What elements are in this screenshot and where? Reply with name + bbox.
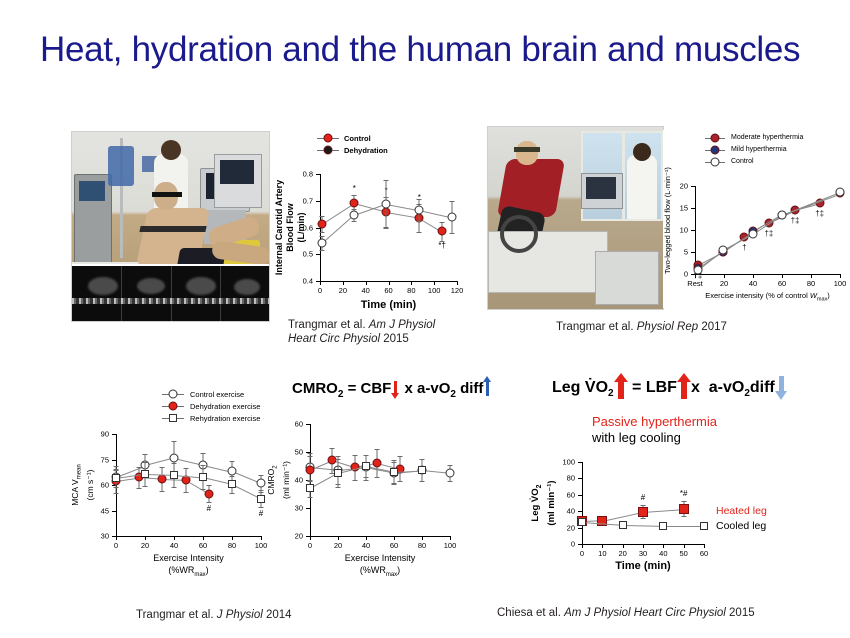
data-point <box>638 507 648 517</box>
data-point <box>373 459 382 468</box>
x-tick-label: 60 <box>778 279 786 288</box>
error-cap <box>641 518 646 519</box>
data-point <box>199 473 207 481</box>
y-axis-label: Internal Carotid ArteryBlood Flow(L/min) <box>274 174 307 281</box>
data-point <box>679 504 689 514</box>
error-cap <box>206 485 211 486</box>
x-tick-label: 50 <box>679 549 687 558</box>
error-cap <box>201 465 206 466</box>
data-point <box>362 462 370 470</box>
x-tick-label: 80 <box>807 279 815 288</box>
data-point <box>257 495 265 503</box>
y-axis-label-line: Leg V̇O2 <box>530 462 546 544</box>
x-tick-label: 60 <box>199 541 207 550</box>
error-cap <box>308 480 313 481</box>
y-tick <box>578 511 582 512</box>
x-tick-label: 10 <box>598 549 606 558</box>
error-cap <box>114 466 119 467</box>
citation-journal-2: Heart Circ Physiol <box>288 333 380 345</box>
data-point <box>382 199 391 208</box>
error-cap <box>230 476 235 477</box>
x-tick <box>411 281 412 285</box>
citation-year: 2015 <box>729 607 755 619</box>
x-tick <box>623 544 624 548</box>
x-tick <box>782 274 783 278</box>
error-cap <box>330 448 335 449</box>
error-cap <box>450 233 455 234</box>
x-tick <box>582 544 583 548</box>
x-tick-label: 80 <box>418 541 426 550</box>
eq-term-avo2: a-vO <box>709 379 745 396</box>
data-point <box>778 211 787 220</box>
x-axis-label-line2: (%WRmax) <box>345 564 416 581</box>
error-cap <box>230 493 235 494</box>
eq-equals: = <box>632 379 641 396</box>
x-tick <box>261 536 262 540</box>
x-tick <box>840 274 841 278</box>
y-tick <box>691 186 695 187</box>
error-cap <box>384 228 389 229</box>
error-cap <box>320 236 325 237</box>
x-tick <box>343 281 344 285</box>
significance-marker: # <box>259 509 263 518</box>
x-tick-label: 100 <box>255 541 268 550</box>
error-cap <box>320 232 325 233</box>
y-axis-label-line: MCA Vmean <box>70 434 85 536</box>
eq-term-avo2: a-vO <box>417 380 450 397</box>
significance-marker: * <box>353 184 356 193</box>
x-axis-label: Exercise Intensity(%WRmax) <box>345 552 416 581</box>
eye-anonymity-band <box>152 192 182 197</box>
legend-label: Rehydration exercise <box>190 414 260 423</box>
carotid-ultrasound-lab-photo <box>71 131 270 322</box>
x-axis-label-line2: (%WRmax) <box>153 564 224 581</box>
legend-label: Moderate hyperthermia <box>731 134 803 141</box>
error-cap <box>364 480 369 481</box>
citation-bottom-right: Chiesa et al. Am J Physiol Heart Circ Ph… <box>497 606 755 620</box>
y-axis-label-line: (L/min) <box>296 174 307 281</box>
error-cap <box>440 222 445 223</box>
x-tick-label: 100 <box>834 279 847 288</box>
subject-head <box>516 141 538 165</box>
error-cap <box>259 490 264 491</box>
x-tick-label: Rest <box>687 279 702 288</box>
error-cap <box>681 501 686 502</box>
x-axis-label-sub: max <box>817 297 827 303</box>
error-cap <box>397 456 402 457</box>
error-cap <box>114 470 119 471</box>
y-tick <box>578 528 582 529</box>
x-tick <box>203 536 204 540</box>
seated-subject <box>132 182 252 277</box>
data-point <box>141 470 149 478</box>
equation-cmro2: CMRO2 = CBF x a-vO2 diff <box>292 378 492 400</box>
error-cap <box>417 199 422 200</box>
error-cap <box>259 507 264 508</box>
series-line <box>623 525 664 527</box>
down-blue-arrow-icon <box>775 374 787 400</box>
head-mounted-sensor <box>514 147 540 152</box>
error-cap <box>183 468 188 469</box>
legend-marker <box>324 146 333 155</box>
legend-marker <box>711 134 720 143</box>
citation-top-left: Trangmar et al. Am J Physiol Heart Circ … <box>288 318 498 346</box>
data-point <box>228 467 237 476</box>
x-tick <box>232 536 233 540</box>
x-tick-label: 80 <box>407 286 415 295</box>
series-line <box>663 526 704 527</box>
legend-label: Dehydration exercise <box>190 402 260 411</box>
legend-marker <box>169 390 178 399</box>
eq-term-cbf: CBF <box>361 380 392 397</box>
chart-title-line2: with leg cooling <box>592 430 681 445</box>
x-tick <box>811 274 812 278</box>
up-red-arrow-icon <box>614 373 628 399</box>
error-cap <box>352 455 357 456</box>
legend-label: Control <box>344 134 371 143</box>
x-tick-label: 40 <box>362 541 370 550</box>
chart-two-legged-blood-flow: Rest2040608010005101520†‡††‡†‡†‡Two-legg… <box>663 130 848 308</box>
y-axis-label-line: Blood Flow <box>285 174 296 281</box>
x-tick <box>643 544 644 548</box>
data-point <box>350 199 359 208</box>
error-cap <box>420 481 425 482</box>
chart-leg-vo2: 0102030405060020406080100#*#Leg V̇O2(ml … <box>534 414 814 584</box>
y-axis-label: MCA Vmean(cm s⁻¹) <box>70 434 95 536</box>
x-axis-label-line1: Exercise Intensity <box>153 552 224 564</box>
data-point <box>718 246 727 255</box>
error-cap <box>375 449 380 450</box>
data-point <box>749 229 758 238</box>
citation-bottom-left: Trangmar et al. J Physiol 2014 <box>136 608 292 622</box>
error-cap <box>259 475 264 476</box>
error-cap <box>160 491 165 492</box>
error-cap <box>392 484 397 485</box>
x-tick <box>663 544 664 548</box>
series-line <box>643 509 684 513</box>
series-line <box>782 192 840 216</box>
y-axis-label-line2: (ml min⁻¹) <box>546 462 558 544</box>
x-tick-label: 0 <box>580 549 584 558</box>
y-tick <box>691 252 695 253</box>
chart-internal-carotid-artery-blood-flow: 0204060801001200.40.50.60.70.8****†Inter… <box>272 128 467 313</box>
y-tick <box>316 281 320 282</box>
x-tick <box>602 544 603 548</box>
x-tick-label: 20 <box>339 286 347 295</box>
significance-marker: *† <box>438 241 446 250</box>
iv-bag <box>108 146 134 186</box>
x-axis-label-tail: ) <box>827 291 830 300</box>
page-title: Heat, hydration and the human brain and … <box>40 30 830 70</box>
x-axis-line <box>695 274 840 275</box>
x-tick-label: 120 <box>451 286 464 295</box>
up-red-arrow-icon-2 <box>677 373 691 399</box>
citation-top-right: Trangmar et al. Physiol Rep 2017 <box>556 320 796 334</box>
technician-figure <box>627 155 657 219</box>
y-tick <box>316 174 320 175</box>
chart-cmro2: 0204060801002030405060CMRO2(ml min⁻¹)Exe… <box>272 402 462 582</box>
x-tick-label: 0 <box>318 286 322 295</box>
data-point <box>659 522 667 530</box>
error-cap <box>450 201 455 202</box>
data-point <box>418 466 426 474</box>
y-tick <box>691 208 695 209</box>
chart-mca-vmean: 0204060801003045607590###MCA Vmean(cm s⁻… <box>78 388 273 580</box>
citation-journal: Physiol Rep <box>637 321 698 333</box>
y-axis-label-line: CMRO2 <box>266 424 281 536</box>
error-cap <box>137 488 142 489</box>
error-cap <box>308 497 313 498</box>
data-point <box>306 484 314 492</box>
eq-term-cmro2: CMRO <box>292 380 338 397</box>
x-tick-label: 20 <box>618 549 626 558</box>
eq-term-lbf: LBF <box>646 379 677 396</box>
significance-marker: †‡ <box>791 216 800 225</box>
error-cap <box>320 216 325 217</box>
x-tick <box>457 281 458 285</box>
x-axis-label: Exercise Intensity(%WRmax) <box>153 552 224 581</box>
eq-times: x <box>405 380 413 397</box>
legend-marker <box>324 134 333 143</box>
legend-marker <box>711 146 720 155</box>
x-tick <box>320 281 321 285</box>
x-tick-label: 20 <box>334 541 342 550</box>
legend-label: Control exercise <box>190 390 244 399</box>
ergometer-wheel <box>500 215 538 253</box>
data-point <box>390 468 398 476</box>
y-tick <box>306 508 310 509</box>
x-tick-label: 20 <box>141 541 149 550</box>
ultrasound-vessel-trace <box>72 298 269 304</box>
series-label-cooled-leg: Cooled leg <box>716 520 766 532</box>
error-cap <box>392 460 397 461</box>
chart-title-line1: Passive hyperthermia <box>592 414 717 429</box>
data-acquisition-monitor <box>581 173 623 209</box>
x-tick-label: 40 <box>361 286 369 295</box>
y-tick <box>112 511 116 512</box>
x-tick <box>366 281 367 285</box>
error-cap <box>114 487 119 488</box>
error-cap <box>352 195 357 196</box>
x-tick <box>434 281 435 285</box>
x-tick-label: 40 <box>659 549 667 558</box>
citation-year: 2014 <box>266 609 292 621</box>
significance-marker: † <box>742 243 746 252</box>
data-point <box>693 265 702 274</box>
y-axis-line <box>582 462 583 544</box>
significance-marker: # <box>641 493 645 502</box>
legend-label: Mild hyperthermia <box>731 146 787 153</box>
data-point <box>619 521 627 529</box>
error-cap <box>364 477 369 478</box>
error-cap <box>308 453 313 454</box>
citation-journal: Am J Physiol Heart Circ Physiol <box>564 607 726 619</box>
x-axis-label: Exercise intensity (% of control Wmax) <box>705 291 830 303</box>
y-tick <box>112 434 116 435</box>
x-tick <box>394 536 395 540</box>
error-cap <box>417 232 422 233</box>
eq-term-diff: diff <box>750 379 775 396</box>
error-cap <box>352 480 357 481</box>
error-cap <box>172 487 177 488</box>
y-tick <box>112 536 116 537</box>
up-blue-arrow-icon <box>483 378 492 398</box>
y-axis-label: CMRO2(ml min⁻¹) <box>266 424 291 536</box>
data-point <box>112 474 120 482</box>
x-tick-label: 0 <box>308 541 312 550</box>
data-point <box>415 205 424 214</box>
data-point <box>448 213 457 222</box>
x-tick-label: 60 <box>390 541 398 550</box>
x-tick <box>724 274 725 278</box>
x-axis-label-line1: Exercise Intensity <box>345 552 416 564</box>
error-cap <box>375 477 380 478</box>
y-tick <box>306 536 310 537</box>
data-point <box>836 188 845 197</box>
series-label-heated-leg: Heated leg <box>716 505 767 517</box>
significance-marker: # <box>207 504 211 513</box>
x-tick <box>704 544 705 548</box>
x-tick-label: 80 <box>228 541 236 550</box>
error-cap <box>172 463 177 464</box>
data-point <box>228 480 236 488</box>
x-tick <box>684 544 685 548</box>
citation-journal: J Physiol <box>217 609 263 621</box>
significance-marker: †‡ <box>815 209 824 218</box>
citation-year: 2015 <box>383 333 409 345</box>
error-cap <box>143 462 148 463</box>
y-tick <box>578 544 582 545</box>
x-tick-label: 20 <box>720 279 728 288</box>
data-point <box>170 453 179 462</box>
error-cap <box>137 467 142 468</box>
data-point <box>204 489 213 498</box>
equation-leg-vo2: Leg V̇O2 = LBFx a-vO2diff <box>552 373 787 400</box>
x-axis-line <box>310 536 450 537</box>
error-cap <box>206 502 211 503</box>
y-tick <box>316 201 320 202</box>
x-tick-label: 40 <box>170 541 178 550</box>
slide-canvas: Heat, hydration and the human brain and … <box>0 0 850 638</box>
y-tick <box>691 230 695 231</box>
y-tick <box>578 478 582 479</box>
data-point <box>350 210 359 219</box>
error-cap <box>160 467 165 468</box>
data-point <box>318 220 327 229</box>
error-cap <box>420 459 425 460</box>
significance-marker: †‡ <box>764 229 773 238</box>
legend-marker <box>169 414 177 422</box>
citation-authors: Chiesa et al. <box>497 607 561 619</box>
citation-authors: Trangmar et al. <box>136 609 214 621</box>
citation-year: 2017 <box>701 321 727 333</box>
x-tick <box>366 536 367 540</box>
y-tick <box>306 424 310 425</box>
eq-term-diff: diff <box>456 380 484 397</box>
x-tick-label: 0 <box>114 541 118 550</box>
error-cap <box>143 486 148 487</box>
x-tick <box>116 536 117 540</box>
error-cap <box>172 441 177 442</box>
data-point <box>318 239 327 248</box>
x-tick <box>338 536 339 540</box>
data-point <box>158 475 167 484</box>
x-tick-label: 40 <box>749 279 757 288</box>
y-axis-label-line2: (ml min⁻¹) <box>281 424 291 536</box>
legend-marker <box>711 158 720 167</box>
x-tick <box>310 536 311 540</box>
x-tick-label: 100 <box>428 286 441 295</box>
error-cap <box>364 455 369 456</box>
x-axis-line <box>116 536 261 537</box>
y-axis-label: Two-legged blood flow (L·min⁻¹) <box>663 186 672 274</box>
error-cap <box>320 250 325 251</box>
y-tick <box>578 495 582 496</box>
equipment-cart <box>595 251 659 305</box>
error-cap <box>336 487 341 488</box>
data-point <box>257 479 266 488</box>
legend-label: Control <box>731 158 754 165</box>
data-point <box>446 469 455 478</box>
data-point <box>700 522 708 530</box>
x-tick <box>389 281 390 285</box>
data-point <box>334 469 342 477</box>
eq-term-legvo2: Leg V̇O <box>552 379 608 396</box>
error-cap <box>352 221 357 222</box>
data-point <box>170 471 178 479</box>
error-cap <box>384 180 389 181</box>
significance-marker: *# <box>680 489 688 498</box>
error-cap <box>183 492 188 493</box>
x-axis-label-main: Exercise intensity (% of control <box>705 291 810 300</box>
x-axis-label-italic: W <box>810 291 817 300</box>
down-red-arrow-icon <box>391 378 400 398</box>
x-tick <box>753 274 754 278</box>
data-point <box>438 227 447 236</box>
error-cap <box>681 516 686 517</box>
y-axis-label: Leg V̇O2(ml min⁻¹) <box>530 462 558 544</box>
error-cap <box>114 493 119 494</box>
chest-strap <box>139 226 206 232</box>
eq-equals: = <box>348 380 357 397</box>
x-axis-label: Time (min) <box>615 560 670 572</box>
error-cap <box>448 481 453 482</box>
error-cap <box>308 456 313 457</box>
x-tick <box>422 536 423 540</box>
data-point <box>328 456 337 465</box>
error-cap <box>336 459 341 460</box>
error-cap <box>417 221 422 222</box>
error-cap <box>336 456 341 457</box>
y-axis-label-line2: (cm s⁻¹) <box>85 434 95 536</box>
data-point <box>306 466 315 475</box>
x-tick-label: 30 <box>639 549 647 558</box>
data-point <box>578 518 586 526</box>
x-tick <box>174 536 175 540</box>
error-cap <box>201 489 206 490</box>
y-axis-label-line: Internal Carotid Artery <box>274 174 285 281</box>
x-tick-label: 60 <box>384 286 392 295</box>
x-tick-label: 100 <box>444 541 457 550</box>
citation-journal: Am J Physiol <box>369 319 435 331</box>
y-tick <box>112 460 116 461</box>
x-axis-label: Time (min) <box>361 299 416 311</box>
error-cap <box>201 453 206 454</box>
legend-label: Dehydration <box>344 146 388 155</box>
ultrasound-image-strip <box>72 264 269 321</box>
y-tick <box>578 462 582 463</box>
error-cap <box>448 465 453 466</box>
